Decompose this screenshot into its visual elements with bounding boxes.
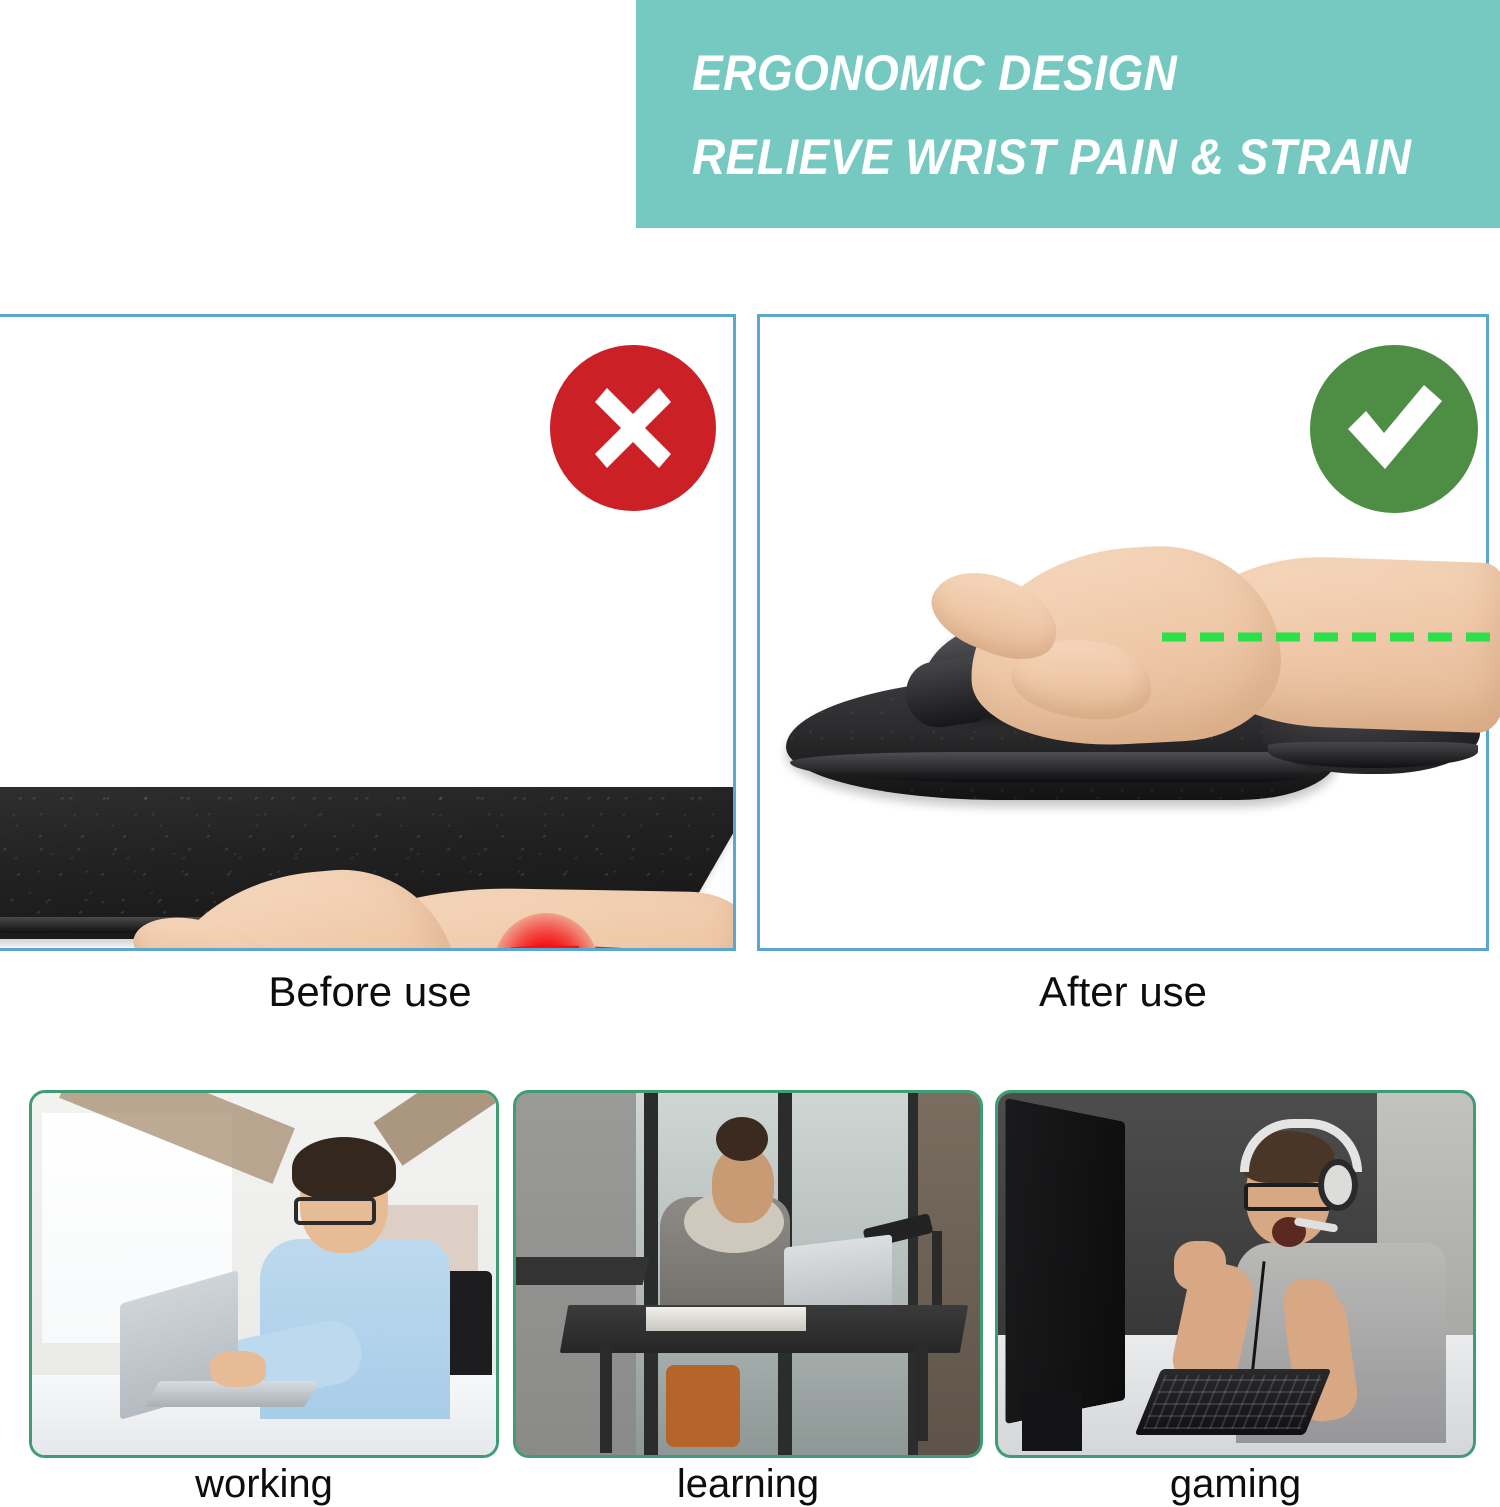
x-mark-badge bbox=[550, 345, 716, 511]
gamers-right-fist bbox=[1284, 1279, 1336, 1329]
usecase-working bbox=[29, 1090, 499, 1458]
mans-hair bbox=[292, 1137, 396, 1199]
computer-monitor bbox=[1006, 1098, 1125, 1424]
banner-headline-primary: ERGONOMIC DESIGN bbox=[692, 38, 1435, 108]
stack-of-books bbox=[646, 1307, 806, 1331]
gamers-left-fist bbox=[1174, 1241, 1226, 1291]
eyeglasses-icon bbox=[294, 1197, 376, 1225]
usecase-working-caption: working bbox=[29, 1462, 499, 1507]
desk-lamp-arm bbox=[932, 1231, 942, 1311]
keyboard-keys bbox=[1143, 1375, 1323, 1429]
check-mark-badge bbox=[1310, 345, 1478, 513]
check-mark-icon bbox=[1336, 371, 1452, 487]
monitor-stand bbox=[1022, 1393, 1082, 1451]
ceiling-beam-secondary bbox=[373, 1090, 499, 1166]
keyboard bbox=[1135, 1369, 1332, 1435]
usecase-working-photo bbox=[32, 1093, 496, 1455]
usecase-gaming bbox=[995, 1090, 1476, 1458]
usecase-gaming-photo bbox=[998, 1093, 1473, 1455]
mans-hand bbox=[210, 1351, 266, 1387]
usecase-working-frame bbox=[29, 1090, 499, 1458]
header-banner: ERGONOMIC DESIGN RELIEVE WRIST PAIN & ST… bbox=[636, 0, 1500, 228]
window-mullion bbox=[644, 1093, 658, 1455]
desk-leg bbox=[600, 1345, 612, 1453]
wooden-stool bbox=[666, 1365, 740, 1447]
ergonomic-pad-edge bbox=[790, 752, 1332, 782]
womans-hair-bun bbox=[716, 1117, 768, 1161]
desk-leg bbox=[916, 1345, 928, 1441]
usecase-learning-frame bbox=[513, 1090, 983, 1458]
wrist-alignment-line-green bbox=[1162, 628, 1498, 646]
headset-earcup bbox=[1318, 1159, 1358, 1211]
banner-headline-secondary: RELIEVE WRIST PAIN & STRAIN bbox=[692, 122, 1435, 192]
background-desk bbox=[513, 1257, 649, 1285]
before-use-caption: Before use bbox=[0, 968, 740, 1016]
usecase-learning bbox=[513, 1090, 983, 1458]
usecase-gaming-caption: gaming bbox=[995, 1462, 1476, 1507]
after-use-caption: After use bbox=[757, 968, 1489, 1016]
usecase-learning-caption: learning bbox=[513, 1462, 983, 1507]
x-mark-icon bbox=[581, 376, 685, 480]
usecase-gaming-frame bbox=[995, 1090, 1476, 1458]
usecase-learning-photo bbox=[516, 1093, 980, 1455]
